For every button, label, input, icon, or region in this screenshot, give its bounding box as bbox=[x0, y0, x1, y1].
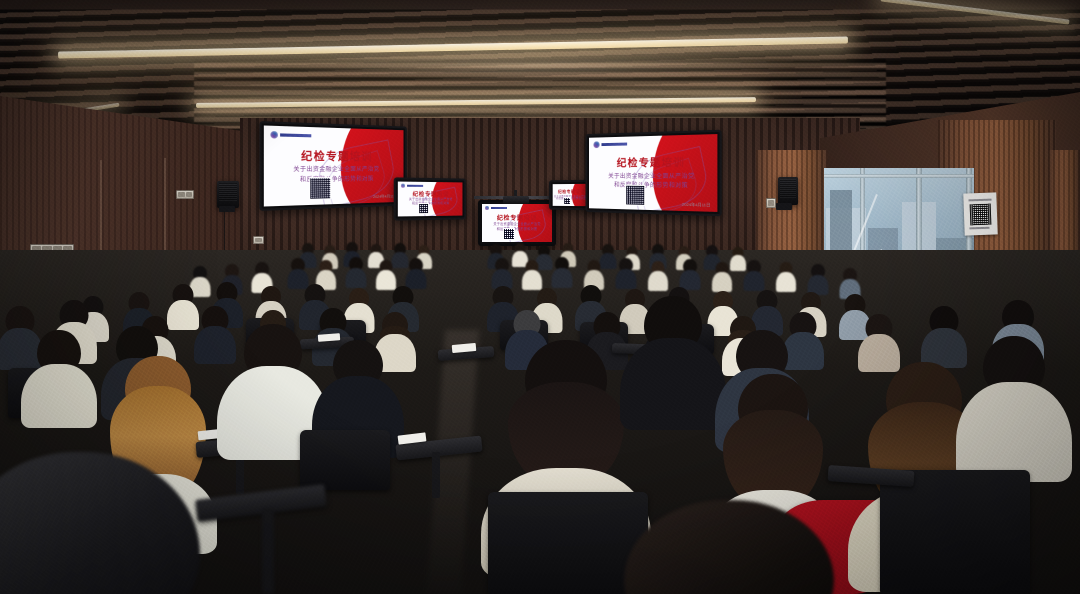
window-transom bbox=[824, 174, 974, 178]
outlet-socket bbox=[768, 200, 774, 206]
slide-subtitle-line1: 关于出资金融企业全面从严治党 bbox=[264, 164, 404, 174]
left-mid-display[interactable]: 纪检专题培训 关于出资金融企业全面从严治党 和反腐败斗争的形势和对策 bbox=[394, 177, 466, 220]
slide-content: 纪检专题培训 关于出资金融企业全面从严治党 和反腐败斗争的形势和对策 2024年… bbox=[264, 125, 404, 206]
slide-qr-code bbox=[418, 203, 429, 214]
slide-qr-code bbox=[503, 228, 515, 240]
poster-caption-line bbox=[970, 227, 990, 230]
speaker-bracket bbox=[776, 203, 792, 210]
ceiling bbox=[0, 0, 1080, 128]
slide-logo bbox=[401, 184, 423, 188]
logo-wordmark bbox=[602, 143, 628, 146]
bank-logo-icon bbox=[401, 184, 405, 188]
right-column-speaker bbox=[778, 177, 798, 205]
logo-wordmark bbox=[407, 185, 423, 187]
speaker-bracket bbox=[219, 206, 235, 212]
slide-content: 纪检专题培训 关于出资金融企业全面从严治党 和反腐败斗争的形势和对策 bbox=[398, 182, 463, 217]
left-lower-switch-plate[interactable] bbox=[253, 236, 264, 244]
chair-tablet-arm bbox=[612, 343, 666, 355]
slide-content: 纪检专题培训 关于出资金融企业全面从严治党 和反腐败斗争的形势和对策 bbox=[482, 204, 552, 242]
slide-content: 纪检专题培训 关于出资金融企业全面从严治党 和反腐败斗争的形势和对策 2024年… bbox=[589, 134, 717, 212]
speaker-grille bbox=[780, 179, 796, 198]
light-switch bbox=[178, 192, 185, 197]
slide-subtitle-line2: 和反腐败斗争的形势和对策 bbox=[589, 180, 717, 190]
training-room-photo: 纪检专题培训 关于出资金融企业全面从严治党 和反腐败斗争的形势和对策 2024年… bbox=[0, 0, 1080, 594]
slide-logo bbox=[594, 141, 628, 149]
bank-logo-icon bbox=[270, 131, 278, 139]
left-wall-display[interactable]: 纪检专题培训 关于出资金融企业全面从严治党 和反腐败斗争的形势和对策 2024年… bbox=[259, 121, 406, 211]
left-wall-speaker bbox=[217, 181, 239, 208]
bank-logo-icon bbox=[485, 206, 489, 210]
slide-subtitle-line2: 和反腐败斗争的形势和对策 bbox=[482, 226, 552, 231]
left-wall-switch-plate[interactable] bbox=[176, 190, 194, 199]
right-column-outlet-plate[interactable] bbox=[766, 198, 776, 208]
slide-date: 2024年4月11日 bbox=[682, 202, 710, 209]
slide-subtitle-line1: 关于出资金融企业全面从严治党 bbox=[589, 171, 717, 180]
speaker-grille bbox=[219, 183, 237, 201]
floor-and-seating-area bbox=[0, 250, 1080, 594]
right-wall-display[interactable]: 纪检专题培训 关于出资金融企业全面从严治党 和反腐败斗争的形势和对策 2024年… bbox=[585, 130, 721, 217]
logo-wordmark bbox=[280, 133, 311, 137]
bank-logo-icon bbox=[594, 142, 600, 149]
ceiling-glow bbox=[281, 49, 799, 82]
slide-qr-code bbox=[625, 184, 645, 205]
light-switch bbox=[186, 192, 193, 197]
slide-logo bbox=[485, 206, 507, 210]
logo-wordmark bbox=[491, 207, 507, 209]
light-switch bbox=[255, 238, 262, 242]
slide-title: 纪检专题培训 bbox=[264, 147, 404, 164]
slide-content: 纪检专题培训 关于出资金融企业全面从严治党 和反腐败斗争的形势和对策 bbox=[553, 184, 590, 206]
poster-heading-line bbox=[969, 198, 991, 201]
poster-qr-code bbox=[970, 204, 992, 226]
qr-code-poster bbox=[963, 192, 997, 235]
slide-qr-code bbox=[309, 178, 331, 201]
speaker-cable bbox=[224, 211, 225, 251]
slide-logo bbox=[270, 131, 311, 139]
front-main-projection-screen[interactable]: 纪检专题培训 关于出资金融企业全面从严治党 和反腐败斗争的形势和对策 bbox=[478, 200, 556, 246]
slide-title: 纪检专题培训 bbox=[589, 154, 717, 170]
slide-qr-code bbox=[564, 197, 572, 205]
projector bbox=[503, 196, 529, 204]
slide-subtitle-line2: 和反腐败斗争的形势和对策 bbox=[398, 201, 463, 205]
